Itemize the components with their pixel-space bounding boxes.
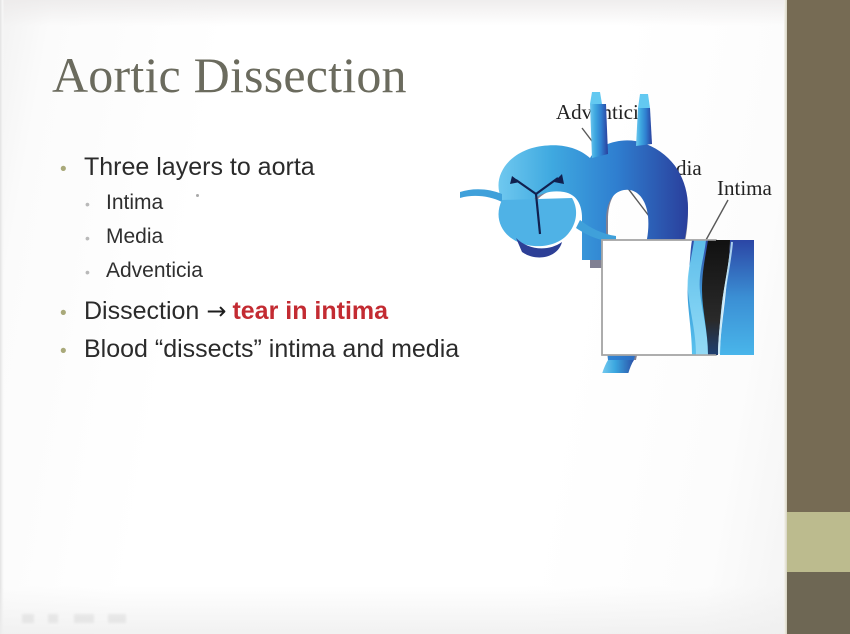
bullet-dot-icon: • bbox=[58, 304, 84, 323]
bullet-dot-icon: • bbox=[58, 342, 84, 361]
bottom-left-smudge bbox=[22, 614, 142, 623]
slide-top-shading bbox=[0, 0, 787, 26]
aorta-descending bbox=[600, 360, 634, 373]
branch-vessel-1-tip bbox=[590, 92, 602, 104]
aortic-dissection-figure: Adventicia Media Intima bbox=[440, 88, 788, 373]
sidebar-band-lower-brown bbox=[787, 572, 850, 634]
right-arrow-icon: → bbox=[199, 297, 232, 325]
slide-bottom-shading bbox=[0, 586, 787, 634]
branch-vessel-2-tip bbox=[638, 94, 650, 108]
bullet-dot-icon: • bbox=[58, 160, 84, 179]
branch-vessel-1 bbox=[590, 104, 608, 158]
bullet-dot-icon: • bbox=[85, 265, 106, 279]
sidebar-band-upper-brown bbox=[787, 0, 850, 512]
leader-line-intima bbox=[706, 200, 728, 240]
branch-vessel-2 bbox=[636, 108, 652, 146]
dust-speck-artifact bbox=[196, 194, 199, 197]
bullet-text: Dissection bbox=[84, 294, 199, 328]
emphasis-text: tear in intima bbox=[232, 297, 388, 326]
bullet-text: Adventicia bbox=[106, 254, 203, 288]
side-vessel-left bbox=[460, 189, 502, 202]
bullet-text: Media bbox=[106, 220, 163, 254]
bullet-text: Blood “dissects” intima and media bbox=[84, 332, 459, 366]
slide-canvas: Aortic Dissection • Three layers to aort… bbox=[0, 0, 850, 634]
figure-artwork bbox=[440, 88, 788, 373]
decorative-sidebar bbox=[787, 0, 850, 634]
bullet-text: Three layers to aorta bbox=[84, 150, 315, 184]
bullet-text: Intima bbox=[106, 186, 163, 220]
slide-left-edge bbox=[0, 0, 4, 634]
inset-magnifier bbox=[602, 240, 754, 355]
bullet-dot-icon: • bbox=[85, 197, 106, 211]
sidebar-band-khaki-accent bbox=[787, 512, 850, 572]
page-title: Aortic Dissection bbox=[52, 49, 407, 102]
bullet-dot-icon: • bbox=[85, 231, 106, 245]
